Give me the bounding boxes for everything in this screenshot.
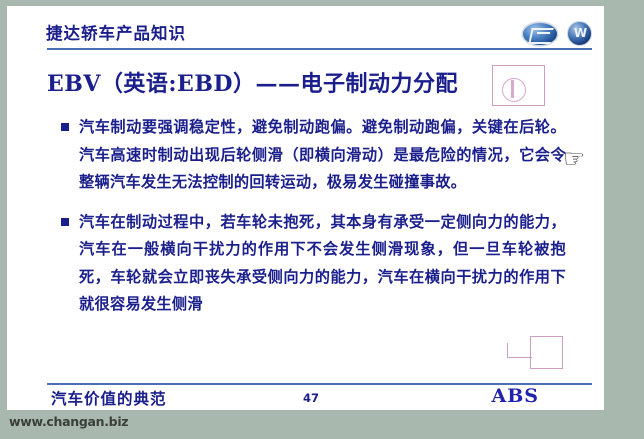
pointing-hand-icon: ☞ (563, 146, 585, 171)
page-number: 47 (303, 391, 319, 405)
header-divider (47, 48, 592, 50)
footer-abs-label: ABS (491, 385, 539, 407)
presentation-frame: 捷达轿车产品知识 W EBV（英语:EBD）——电子制动力分配 汽车制动要强调稳… (0, 0, 644, 439)
header-logo-group: W (522, 21, 592, 46)
footer-tagline: 汽车价值的典范 (51, 387, 167, 409)
slide-title: EBV（英语:EBD）——电子制动力分配 (47, 61, 592, 103)
slide-body: 汽车制动要强调稳定性，避免制动跑偏。避免制动跑偏，关键在后轮。汽车高速时制动出现… (7, 114, 604, 331)
bullet-item: 汽车在制动过程中，若车轮未抱死，其本身有承受一定侧向力的能力，汽车在一般横向干扰… (7, 209, 604, 319)
site-watermark: www.changan.biz (9, 414, 128, 429)
body-highlight-box (530, 336, 563, 369)
faw-logo-icon (522, 22, 558, 46)
volkswagen-logo-icon: W (567, 21, 592, 46)
bullet-item: 汽车制动要强调稳定性，避免制动跑偏。避免制动跑偏，关键在后轮。汽车高速时制动出现… (7, 114, 604, 197)
slide-footer: 汽车价值的典范 47 ABS (7, 387, 604, 412)
slide-header: 捷达轿车产品知识 W (7, 6, 604, 52)
slide-title-text: EBV（英语:EBD）——电子制动力分配 (47, 66, 458, 98)
header-title: 捷达轿车产品知识 (46, 20, 186, 44)
bullet-text: 汽车制动要强调稳定性，避免制动跑偏。避免制动跑偏，关键在后轮。汽车高速时制动出现… (79, 114, 566, 197)
slide-canvas: 捷达轿车产品知识 W EBV（英语:EBD）——电子制动力分配 汽车制动要强调稳… (7, 6, 604, 410)
body-highlight-notch-icon (507, 343, 532, 358)
square-bullet-icon (61, 123, 69, 131)
bullet-text: 汽车在制动过程中，若车轮未抱死，其本身有承受一定侧向力的能力，汽车在一般横向干扰… (79, 209, 566, 319)
square-bullet-icon (61, 218, 69, 226)
